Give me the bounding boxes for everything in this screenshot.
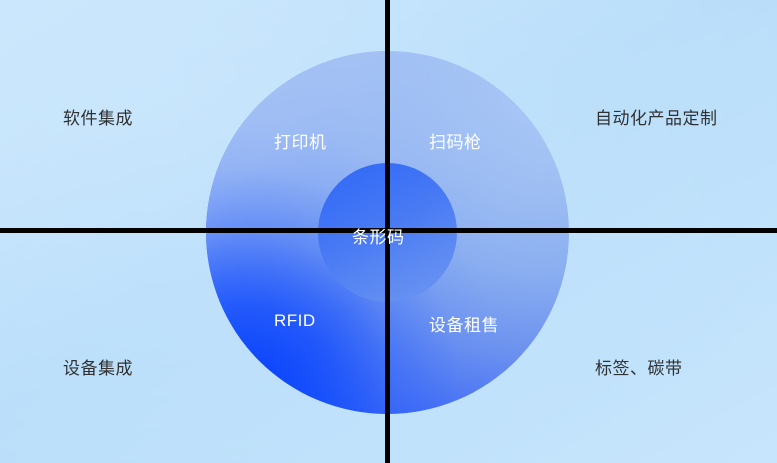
outer-label-bottom-right: 标签、碳带 [595,354,683,379]
inner-label-top-right: 扫码枪 [429,128,482,153]
outer-label-top-right: 自动化产品定制 [595,104,718,129]
inner-label-bottom-left: RFID [274,311,316,331]
outer-label-bottom-left: 设备集成 [63,354,133,379]
center-label: 条形码 [352,223,405,248]
inner-label-bottom-right: 设备租售 [429,311,499,336]
inner-label-top-left: 打印机 [274,128,327,153]
outer-label-top-left: 软件集成 [63,104,133,129]
diagram-canvas: 软件集成 自动化产品定制 设备集成 标签、碳带 打印机 扫码枪 RFID 设备租… [0,0,777,463]
